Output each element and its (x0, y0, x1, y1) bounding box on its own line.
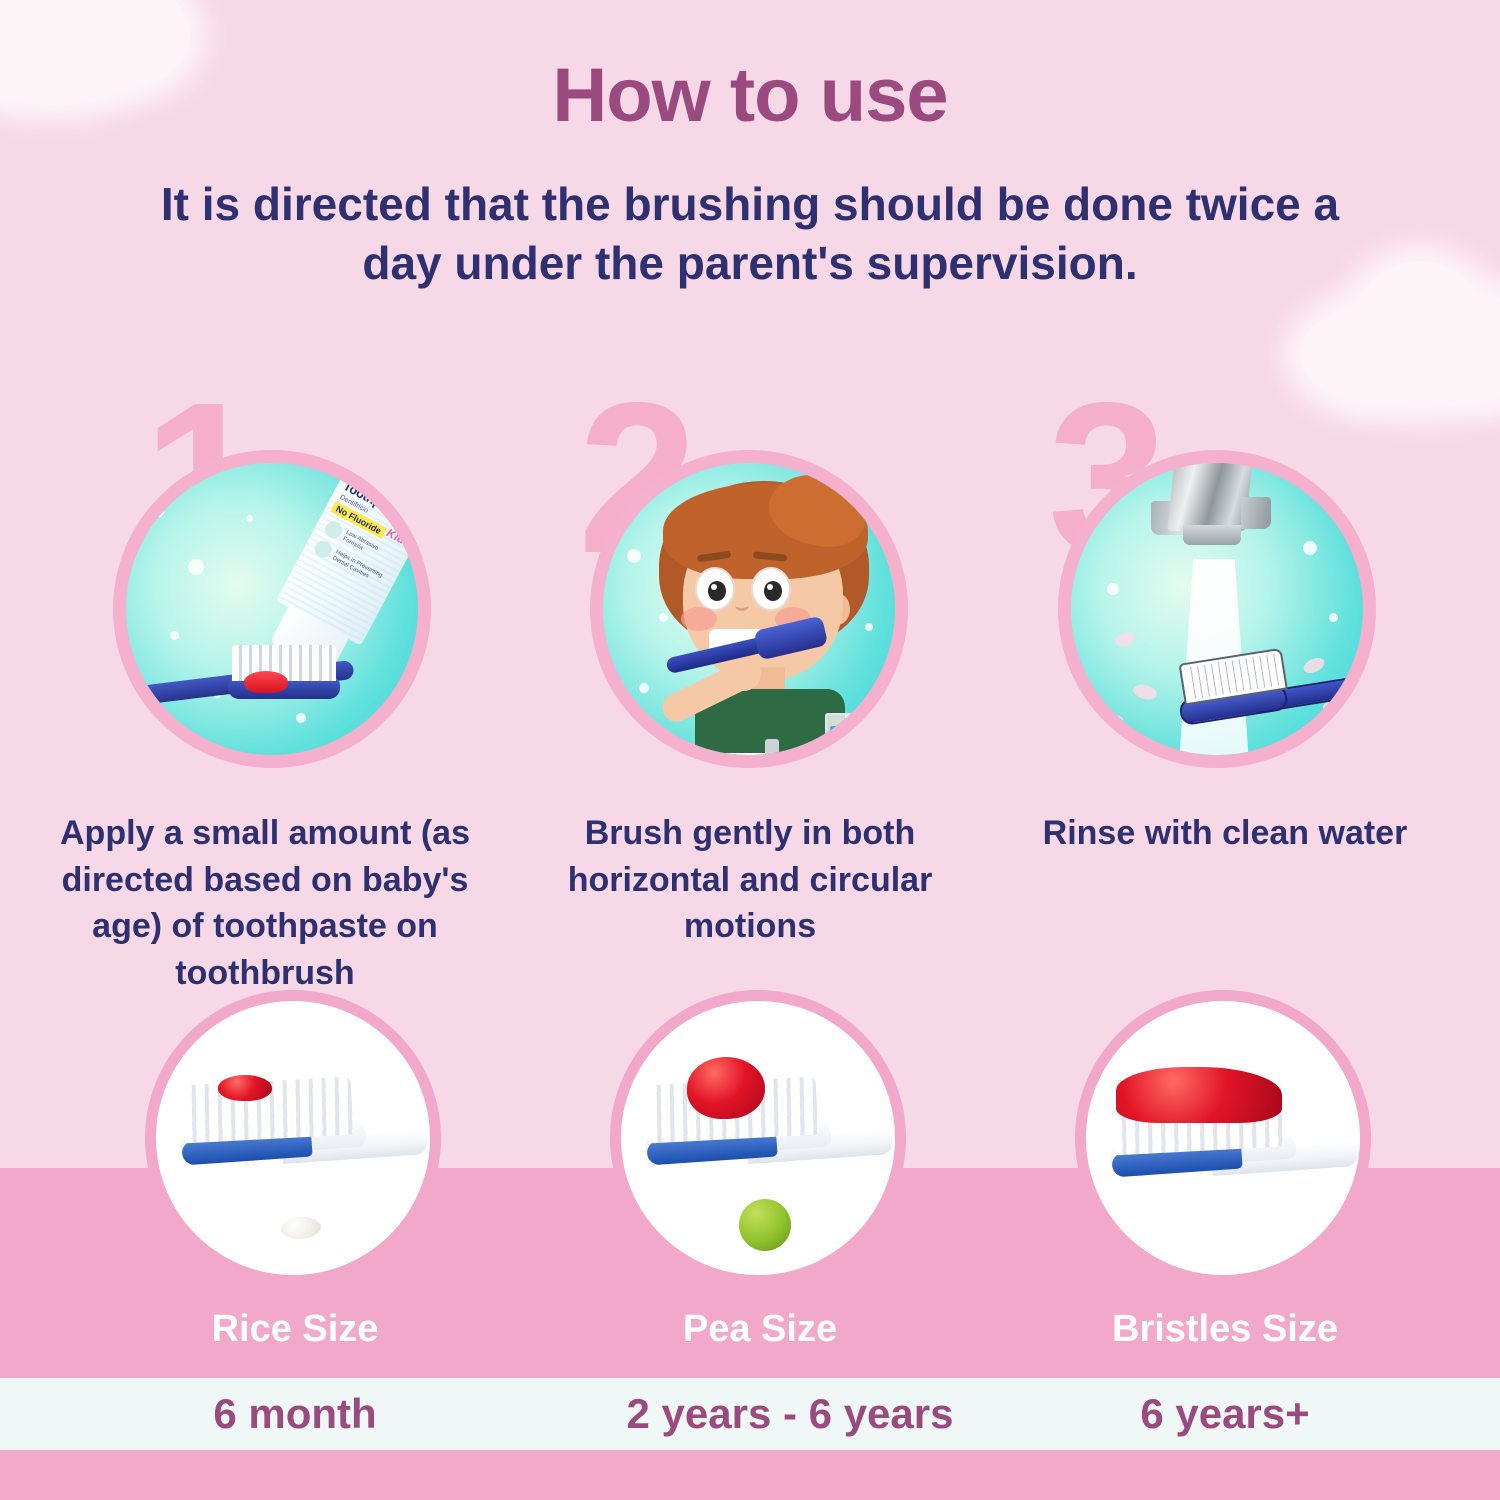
bristles-size-label: Bristles Size (1075, 1308, 1375, 1351)
page-subtitle: It is directed that the brushing should … (150, 175, 1350, 293)
step-1-image-circle: Toothpaste Dentifricio No Fluoride Kids … (113, 450, 431, 768)
page-title: How to use (0, 52, 1500, 139)
rice-size-brush (170, 1075, 420, 1183)
faucet-icon (1149, 463, 1279, 569)
boy-brushing-illustration (629, 481, 894, 755)
step-1-scene: Toothpaste Dentifricio No Fluoride Kids … (126, 463, 418, 755)
step-1-caption: Apply a small amount (as directed based … (30, 810, 500, 996)
pea-size-circle (610, 990, 906, 1286)
green-pea-icon (739, 1199, 791, 1251)
rinsing-toothbrush (1156, 628, 1363, 743)
step-2-scene (603, 463, 895, 755)
age-label-rice: 6 month (145, 1378, 445, 1450)
step-2-caption: Brush gently in both horizontal and circ… (515, 810, 985, 950)
pea-size-brush (635, 1075, 885, 1183)
bristles-size-brush (1100, 1087, 1350, 1195)
step-3-caption: Rinse with clean water (990, 810, 1460, 857)
paste-dab (244, 671, 288, 693)
step-3: 3 (1000, 380, 1460, 960)
bristles-size-circle (1075, 990, 1371, 1286)
rice-grain-icon (280, 1216, 321, 1241)
bottom-pink-strip (0, 1450, 1500, 1500)
age-label-pea: 2 years - 6 years (590, 1378, 990, 1450)
size-item-bristles: Bristles Size (1075, 990, 1375, 1290)
bristles-size-paste (1116, 1067, 1282, 1123)
step-2-image-circle (590, 450, 908, 768)
size-item-rice: Rice Size (145, 990, 445, 1290)
pea-size-label: Pea Size (610, 1308, 910, 1351)
step-3-image-circle (1058, 450, 1376, 768)
age-range-bar: 6 month 2 years - 6 years 6 years+ (0, 1378, 1500, 1450)
rice-size-paste (218, 1075, 272, 1101)
rice-size-circle (145, 990, 441, 1286)
pea-size-paste (687, 1057, 765, 1119)
dosage-size-row: Rice Size Pea Size (0, 990, 1500, 1290)
age-label-bristles: 6 years+ (1075, 1378, 1375, 1450)
rice-size-label: Rice Size (145, 1308, 445, 1351)
step-3-scene (1071, 463, 1363, 755)
size-item-pea: Pea Size (610, 990, 910, 1290)
